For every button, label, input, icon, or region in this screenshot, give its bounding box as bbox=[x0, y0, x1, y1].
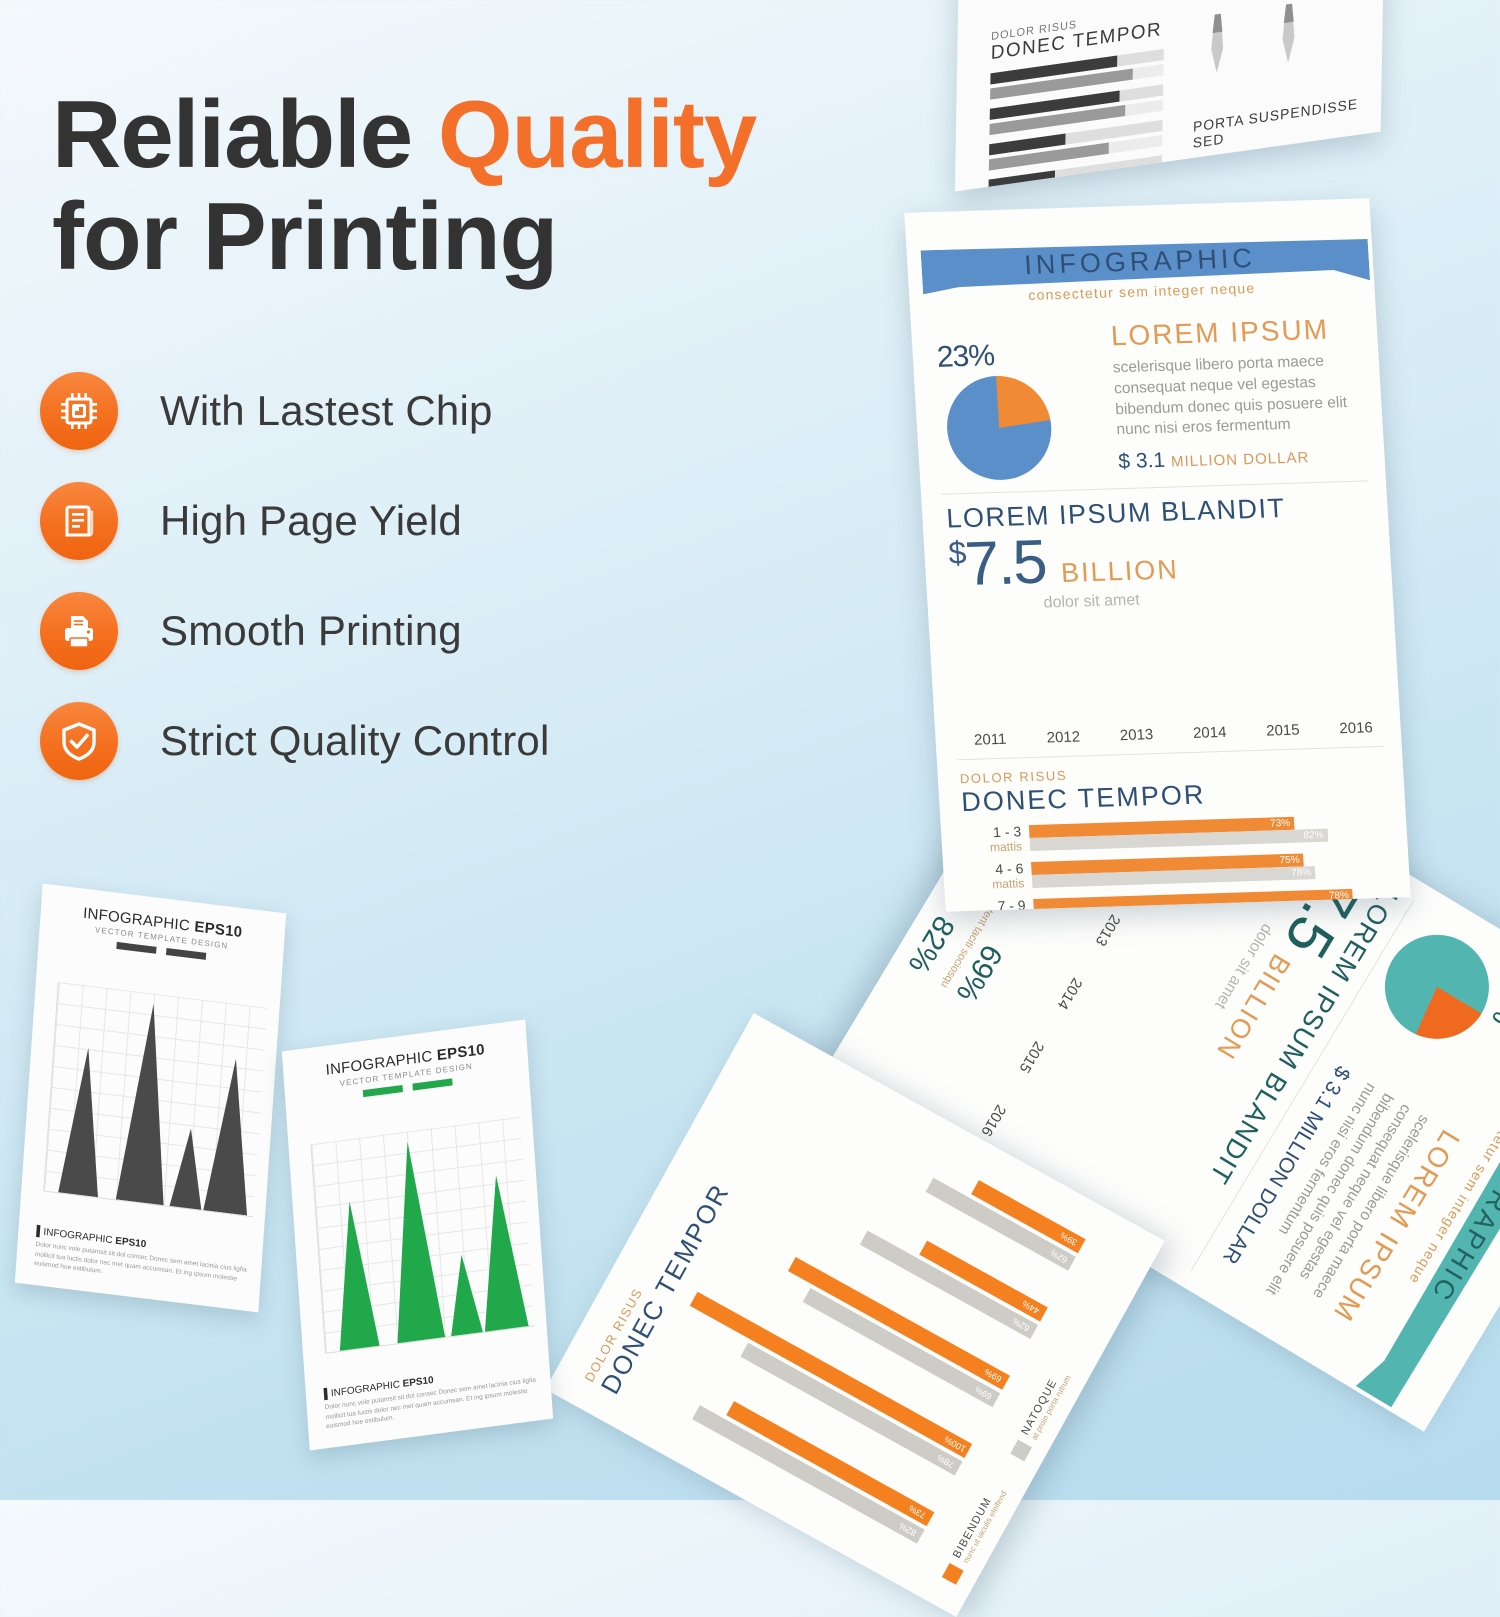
document-icon bbox=[40, 482, 118, 560]
blandit-value: $7.5 BILLION bbox=[948, 523, 1374, 595]
feature-item-chip: With Lastest Chip bbox=[40, 356, 680, 466]
kpi-body-text: scelerisque libero porta maece consequat… bbox=[1112, 351, 1365, 442]
bar-value: 82% bbox=[1303, 830, 1328, 842]
year-label: 2011 bbox=[974, 731, 1007, 749]
bar-row: 1 - 3mattis 73% 82% bbox=[963, 812, 1394, 855]
pie-chart bbox=[944, 374, 1054, 481]
bar-value: 73% bbox=[1270, 818, 1295, 830]
chart-sheet-green: INFOGRAPHIC EPS10 VECTOR TEMPLATE DESIGN… bbox=[282, 1019, 553, 1450]
year-bar: 2016 bbox=[1325, 713, 1388, 738]
year-bar: 2013 bbox=[1105, 720, 1168, 745]
divider bbox=[957, 746, 1384, 760]
year-label: 2013 bbox=[1119, 726, 1153, 744]
bar-category-unit: mattis bbox=[964, 839, 1023, 855]
cs-plot-gray bbox=[43, 982, 267, 1217]
infographic-sheet-grayscale: DOLOR RISUS DONEC TEMPOR ARCU bbox=[955, 0, 1385, 191]
gray-section-porta: PORTA SUSPENDISSE SED bbox=[1193, 94, 1366, 151]
gray-item-label: FUN bbox=[1255, 182, 1301, 191]
bar-category: 1 - 3 bbox=[963, 823, 1022, 841]
hand-card-icon bbox=[846, 847, 923, 926]
feature-list: With Lastest Chip High Page Yield bbox=[40, 356, 680, 796]
money-icon bbox=[1178, 717, 1239, 719]
poster-canvas: Reliable Quality for Printing bbox=[0, 0, 1500, 1500]
feature-item-page-yield: High Page Yield bbox=[40, 466, 680, 576]
kpi-money: $ 3.1 MILLION DOLLAR bbox=[1118, 443, 1367, 475]
cs-pill bbox=[166, 948, 206, 960]
cs-pill bbox=[362, 1085, 402, 1097]
bar-value: 78% bbox=[1291, 867, 1316, 879]
page-title: Reliable Quality for Printing bbox=[52, 84, 912, 288]
feature-item-quality-control: Strict Quality Control bbox=[40, 686, 680, 796]
kpi-heading: LOREM IPSUM bbox=[1110, 313, 1360, 353]
money-icon bbox=[1325, 713, 1386, 715]
money-icon bbox=[1105, 720, 1166, 722]
feature-label: With Lastest Chip bbox=[160, 387, 493, 435]
headline-line1-dark: Reliable bbox=[52, 81, 438, 188]
cs-pill bbox=[412, 1078, 452, 1090]
money-icon bbox=[959, 724, 1020, 726]
main-ribbon: INFOGRAPHIC consectetur sem integer nequ… bbox=[906, 230, 1375, 307]
kpi-section: 23% LOREM IPSUM scelerisque libero porta… bbox=[935, 307, 1367, 480]
feature-item-smooth-printing: Smooth Printing bbox=[40, 576, 680, 686]
feature-label: Smooth Printing bbox=[160, 607, 462, 655]
year-bar: 2011 bbox=[959, 724, 1022, 749]
printer-icon bbox=[40, 592, 118, 670]
cs-plot-green bbox=[310, 1117, 534, 1354]
donec-bar-chart: DOLOR RISUS DONEC TEMPOR 1 - 3mattis 73%… bbox=[959, 758, 1402, 912]
year-bar: 2015 bbox=[1251, 715, 1314, 740]
shield-check-icon bbox=[40, 702, 118, 780]
bar-category: 4 - 6 bbox=[965, 860, 1024, 878]
chip-icon bbox=[40, 372, 118, 450]
year-label: 2014 bbox=[1193, 724, 1227, 742]
feature-label: Strict Quality Control bbox=[160, 717, 550, 765]
blandit-section: LOREM IPSUM BLANDIT $7.5 BILLION dolor s… bbox=[946, 490, 1376, 615]
gray-item-label: FUN & IRON bbox=[1318, 173, 1364, 186]
year-label: 2012 bbox=[1046, 728, 1080, 746]
chart-sheet-gray: INFOGRAPHIC EPS10 VECTOR TEMPLATE DESIGN… bbox=[15, 884, 286, 1313]
money-icon bbox=[1032, 722, 1093, 724]
bar-category-unit: mattis bbox=[966, 876, 1025, 892]
money-icon bbox=[1251, 715, 1312, 717]
bar-value: 75% bbox=[1279, 854, 1304, 866]
bar-row: 4 - 6mattis 75% 78% bbox=[965, 849, 1396, 892]
year-label: 2016 bbox=[1339, 719, 1373, 737]
headline-line2: for Printing bbox=[52, 183, 557, 290]
year-bar: 2012 bbox=[1032, 722, 1095, 747]
cs-pill bbox=[116, 942, 156, 954]
feature-label: High Page Yield bbox=[160, 497, 462, 545]
infographic-sheet-main: INFOGRAPHIC consectetur sem integer nequ… bbox=[904, 198, 1410, 911]
year-label: 2015 bbox=[1266, 722, 1300, 740]
headline-line1-accent: Quality bbox=[438, 81, 756, 188]
year-bar-chart: 2011 2012 2013 2014 2015 2016 bbox=[953, 616, 1387, 749]
year-bar: 2014 bbox=[1178, 717, 1241, 742]
